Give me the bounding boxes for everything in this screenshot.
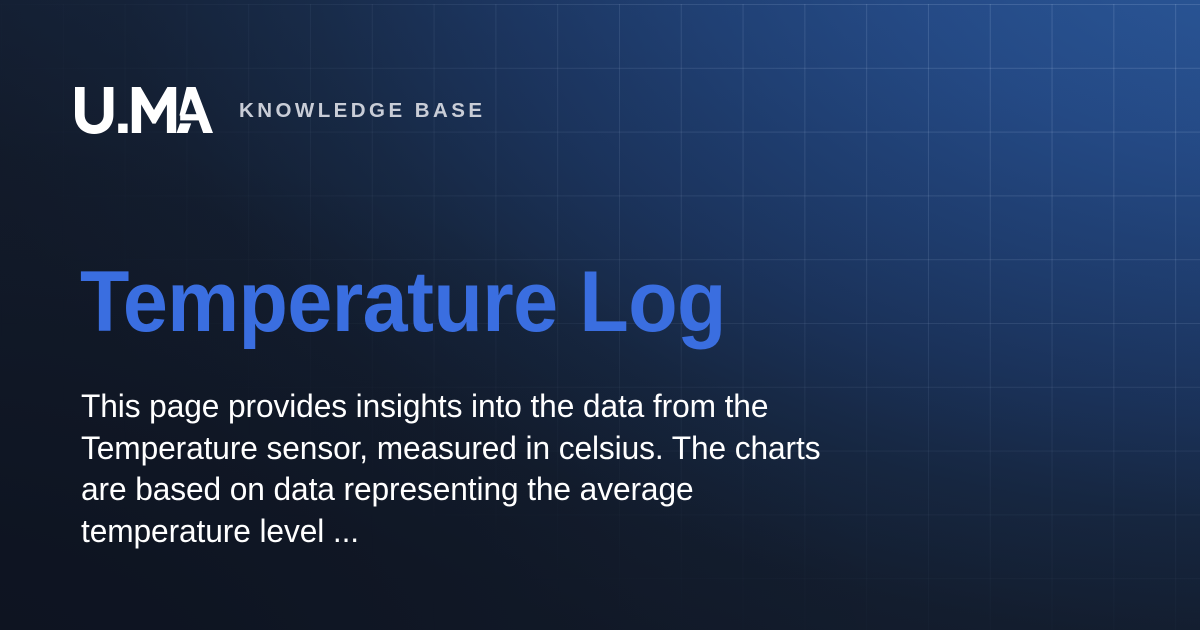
page-title: Temperature Log — [80, 259, 726, 345]
share-card: KNOWLEDGE BASE Temperature Log This page… — [0, 0, 1200, 630]
uma-wordmark-icon — [75, 87, 213, 134]
brand-kicker-label: KNOWLEDGE BASE — [239, 98, 485, 122]
brand-lockup: KNOWLEDGE BASE — [75, 85, 485, 135]
page-description: This page provides insights into the dat… — [81, 386, 851, 552]
card-content: KNOWLEDGE BASE Temperature Log This page… — [0, 0, 1200, 630]
